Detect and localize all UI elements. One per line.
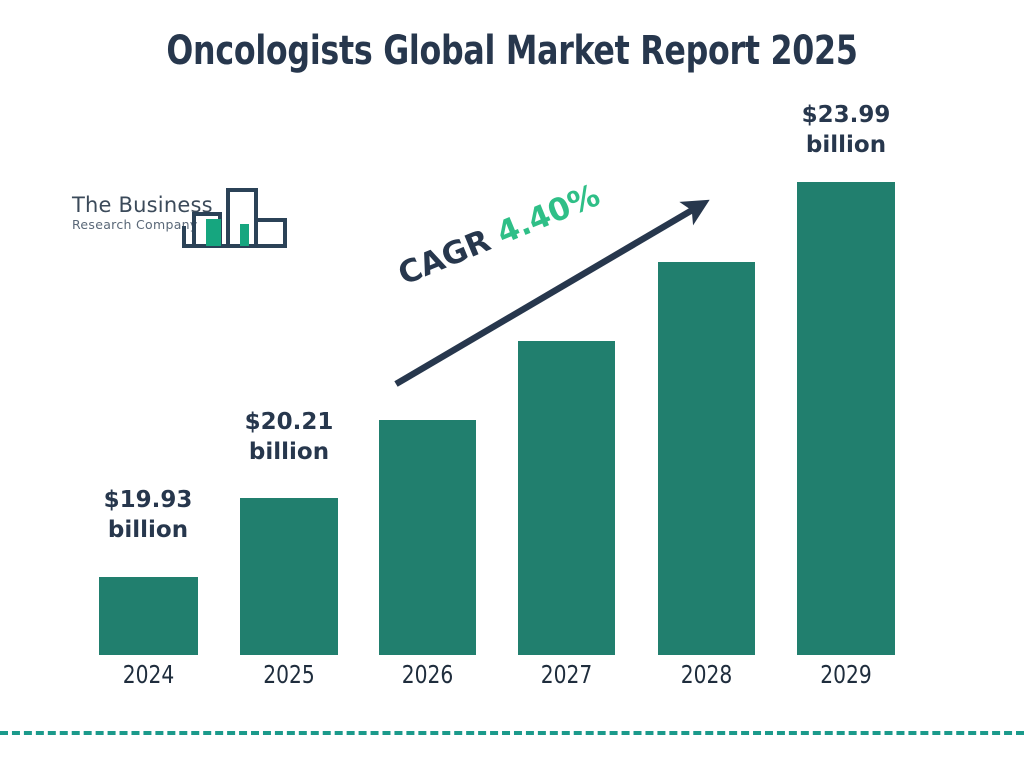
xtick-2026: 2026 (384, 660, 471, 689)
xtick-2028: 2028 (663, 660, 750, 689)
value-label-2025-unit: billion (225, 437, 353, 467)
xtick-2024: 2024 (104, 660, 193, 689)
value-label-2024-amount: $19.93 (84, 485, 212, 515)
footer-divider (0, 731, 1024, 735)
value-label-2024-unit: billion (84, 515, 212, 545)
xtick-2029: 2029 (802, 660, 890, 689)
bar-2028 (658, 262, 755, 655)
bar-2027 (518, 341, 615, 655)
value-label-2025-amount: $20.21 (225, 407, 353, 437)
value-label-2024: $19.93 billion (84, 485, 212, 545)
xtick-2025: 2025 (245, 660, 333, 689)
value-label-2029-unit: billion (782, 130, 910, 160)
bar-2029 (797, 182, 895, 655)
xtick-2027: 2027 (523, 660, 610, 689)
bar-2024 (99, 577, 198, 655)
chart-canvas: Oncologists Global Market Report 2025 Th… (0, 0, 1024, 768)
value-label-2025: $20.21 billion (225, 407, 353, 467)
value-label-2029: $23.99 billion (782, 100, 910, 160)
bar-2025 (240, 498, 338, 655)
value-label-2029-amount: $23.99 (782, 100, 910, 130)
bar-2026 (379, 420, 476, 655)
